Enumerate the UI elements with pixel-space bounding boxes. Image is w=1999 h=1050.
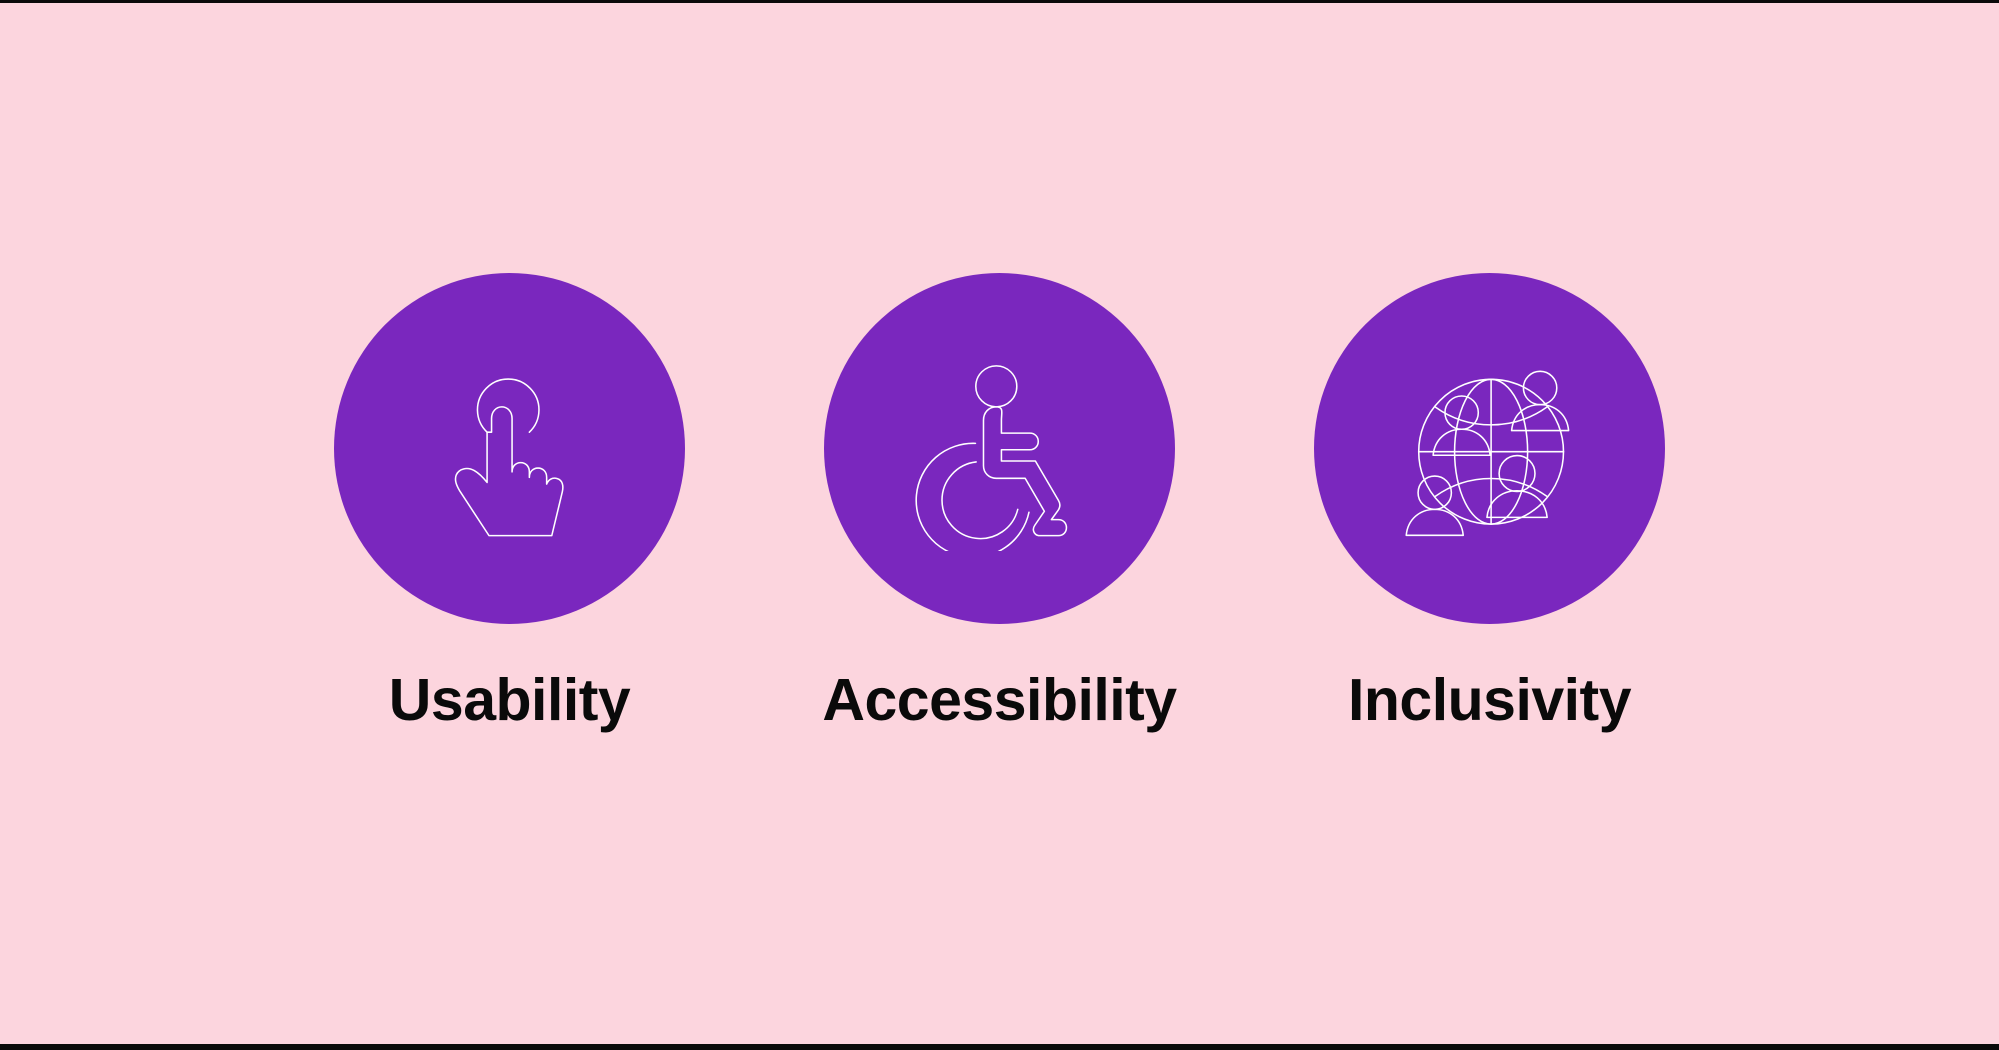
icon-badge-usability <box>334 273 685 624</box>
concept-card-inclusivity[interactable]: Inclusivity <box>1245 273 1735 730</box>
bottom-edge-bar <box>0 1044 1999 1050</box>
concept-card-label: Usability <box>389 671 630 730</box>
slide-canvas: Usability Accessibil <box>0 0 1999 1050</box>
touch-gesture-icon <box>407 346 612 551</box>
concept-card-usability[interactable]: Usability <box>265 273 755 730</box>
concept-card-accessibility[interactable]: Accessibility <box>755 273 1245 730</box>
wheelchair-accessibility-icon <box>897 346 1102 551</box>
icon-badge-inclusivity <box>1314 273 1665 624</box>
icon-badge-accessibility <box>824 273 1175 624</box>
concept-card-row: Usability Accessibil <box>0 0 1999 1050</box>
concept-card-label: Inclusivity <box>1348 671 1631 730</box>
globe-people-icon <box>1387 346 1592 551</box>
concept-card-label: Accessibility <box>822 671 1176 730</box>
